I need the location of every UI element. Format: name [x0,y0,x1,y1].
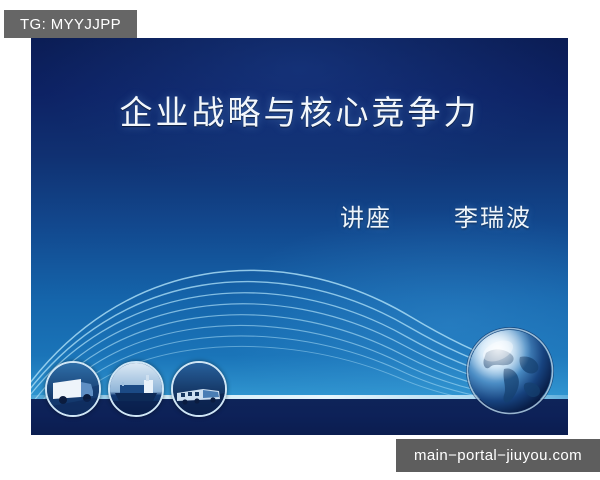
tg-watermark-badge: TG: MYYJJPP [4,10,137,38]
truck-thumbnail [45,361,101,417]
subtitle-speaker: 李瑞波 [454,198,532,233]
slide-subtitle: 讲座 李瑞波 [340,198,532,233]
presentation-slide: 企业战略与核心竞争力 讲座 李瑞波 [31,38,568,435]
cargo-ship-thumbnail [108,361,164,417]
screenshot-root: 企业战略与核心竞争力 讲座 李瑞波 [0,0,600,480]
subtitle-label: 讲座 [340,198,392,233]
thumbnail-row [45,361,227,417]
train-thumbnail [171,361,227,417]
globe-icon [464,325,556,417]
site-watermark-badge: main−portal−jiuyou.com [396,439,600,472]
slide-title: 企业战略与核心竞争力 [31,86,568,134]
